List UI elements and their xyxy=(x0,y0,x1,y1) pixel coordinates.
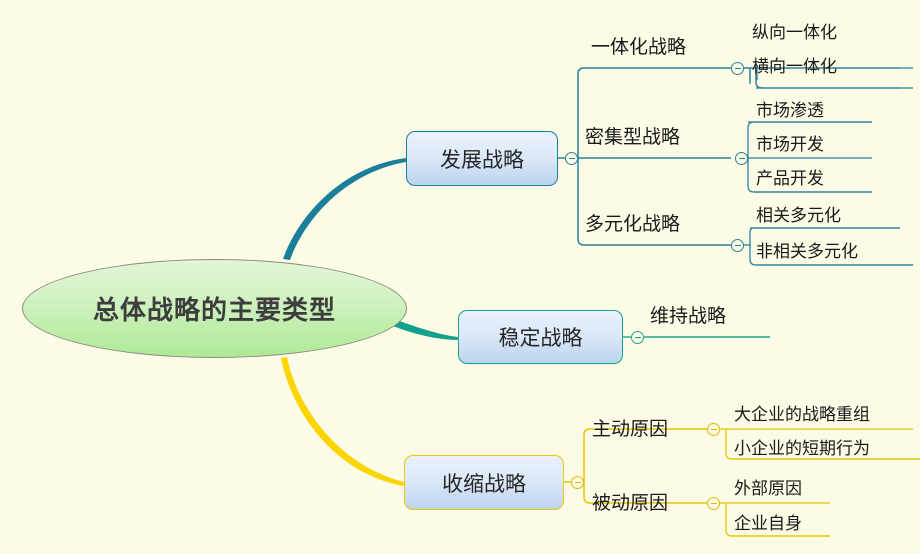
subtopic-active-cause[interactable]: 主动原因 xyxy=(592,414,668,441)
leaf-vertical-integration[interactable]: 纵向一体化 xyxy=(752,18,837,43)
branch-label-development: 发展战略 xyxy=(440,144,524,174)
leaf-product-development[interactable]: 产品开发 xyxy=(756,164,824,189)
branch-label-stability: 稳定战略 xyxy=(499,322,583,352)
mindmap-canvas: 总体战略的主要类型 发展战略 稳定战略 收缩战略 一体化战略 密集型战略 多元化… xyxy=(0,0,920,554)
subtopic-integration[interactable]: 一体化战略 xyxy=(591,32,686,59)
collapse-minus-icon-intensive[interactable] xyxy=(735,152,748,165)
leaf-market-penetration[interactable]: 市场渗透 xyxy=(756,96,824,121)
leaf-large-enterprise-restructuring[interactable]: 大企业的战略重组 xyxy=(734,400,870,425)
central-topic-node[interactable]: 总体战略的主要类型 xyxy=(22,259,407,358)
collapse-minus-icon-retrenchment[interactable] xyxy=(571,476,584,489)
branch-node-development[interactable]: 发展战略 xyxy=(406,131,558,186)
leaf-market-development[interactable]: 市场开发 xyxy=(756,130,824,155)
leaf-unrelated-diversification[interactable]: 非相关多元化 xyxy=(756,237,858,262)
leaf-enterprise-itself[interactable]: 企业自身 xyxy=(734,509,802,534)
collapse-minus-icon-passive-cause[interactable] xyxy=(707,497,720,510)
collapse-minus-icon-active-cause[interactable] xyxy=(707,423,720,436)
collapse-minus-icon-diversification[interactable] xyxy=(731,239,744,252)
collapse-minus-icon-development[interactable] xyxy=(565,152,578,165)
subtopic-maintenance[interactable]: 维持战略 xyxy=(650,301,726,328)
leaf-external-cause[interactable]: 外部原因 xyxy=(734,474,802,499)
subtopic-diversification[interactable]: 多元化战略 xyxy=(585,209,680,236)
leaf-small-enterprise-short-term[interactable]: 小企业的短期行为 xyxy=(734,434,870,459)
branch-node-stability[interactable]: 稳定战略 xyxy=(458,310,623,364)
leaf-related-diversification[interactable]: 相关多元化 xyxy=(756,201,841,226)
leaf-horizontal-integration[interactable]: 横向一体化 xyxy=(752,52,837,77)
trunk-retrenchment xyxy=(281,357,404,486)
branch-node-retrenchment[interactable]: 收缩战略 xyxy=(404,455,564,510)
branch-label-retrenchment: 收缩战略 xyxy=(442,468,526,498)
trunk-development xyxy=(283,158,406,260)
central-topic-label: 总体战略的主要类型 xyxy=(93,290,336,327)
subtopic-intensive[interactable]: 密集型战略 xyxy=(585,122,680,149)
collapse-minus-icon-stability[interactable] xyxy=(631,331,644,344)
subtopic-passive-cause[interactable]: 被动原因 xyxy=(592,488,668,515)
collapse-minus-icon-integration[interactable] xyxy=(731,62,744,75)
